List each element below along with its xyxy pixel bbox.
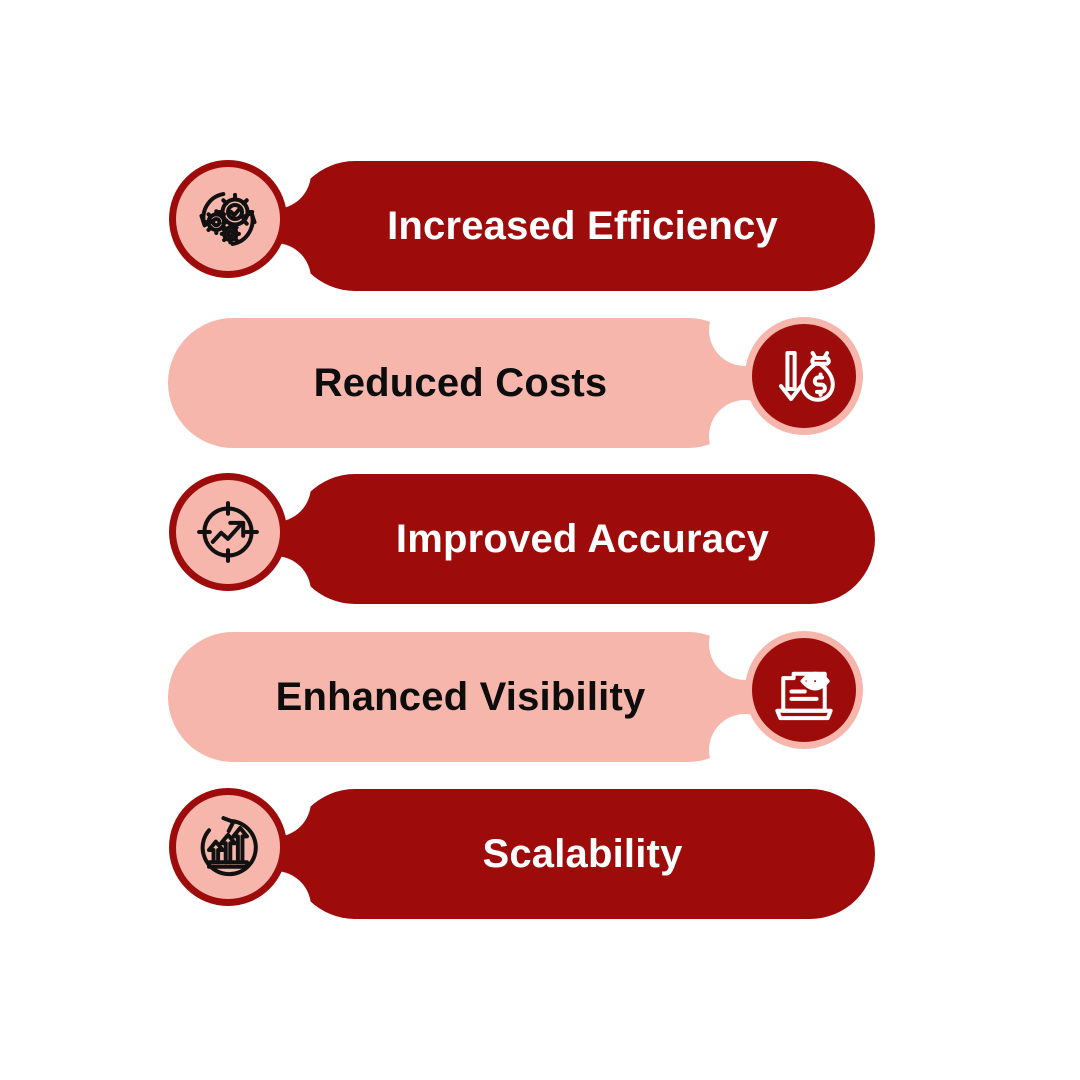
benefit-icon-badge[interactable]: [169, 473, 287, 591]
benefit-icon-badge[interactable]: [745, 631, 863, 749]
benefit-label: Scalability: [482, 834, 682, 874]
rising-bars-arrows-icon: [190, 809, 266, 885]
benefit-icon-badge[interactable]: [169, 788, 287, 906]
benefit-row-reduced-costs[interactable]: Reduced Costs: [0, 318, 1080, 448]
money-bag-down-arrow-icon: [768, 340, 840, 412]
benefit-pill[interactable]: Improved Accuracy: [290, 474, 875, 604]
benefit-row-scalability[interactable]: Scalability: [0, 789, 1080, 919]
benefit-icon-badge[interactable]: [169, 160, 287, 278]
benefit-label: Increased Efficiency: [387, 206, 778, 246]
benefit-pill[interactable]: Reduced Costs: [168, 318, 753, 448]
benefit-label: Reduced Costs: [314, 363, 608, 403]
benefit-icon-badge[interactable]: [745, 317, 863, 435]
benefit-pill[interactable]: Enhanced Visibility: [168, 632, 753, 762]
benefit-pill[interactable]: Increased Efficiency: [290, 161, 875, 291]
benefit-label: Enhanced Visibility: [276, 677, 646, 717]
benefit-row-improved-accuracy[interactable]: Improved Accuracy: [0, 474, 1080, 604]
benefit-row-enhanced-visibility[interactable]: Enhanced Visibility: [0, 632, 1080, 762]
benefit-row-increased-efficiency[interactable]: Increased Efficiency: [0, 161, 1080, 291]
benefit-pill[interactable]: Scalability: [290, 789, 875, 919]
benefit-label: Improved Accuracy: [396, 519, 769, 559]
target-growth-arrow-icon: [190, 494, 266, 570]
gears-check-refresh-icon: [189, 180, 267, 258]
infographic-canvas: Increased Efficiency: [0, 0, 1080, 1080]
laptop-eye-icon: [767, 653, 841, 727]
